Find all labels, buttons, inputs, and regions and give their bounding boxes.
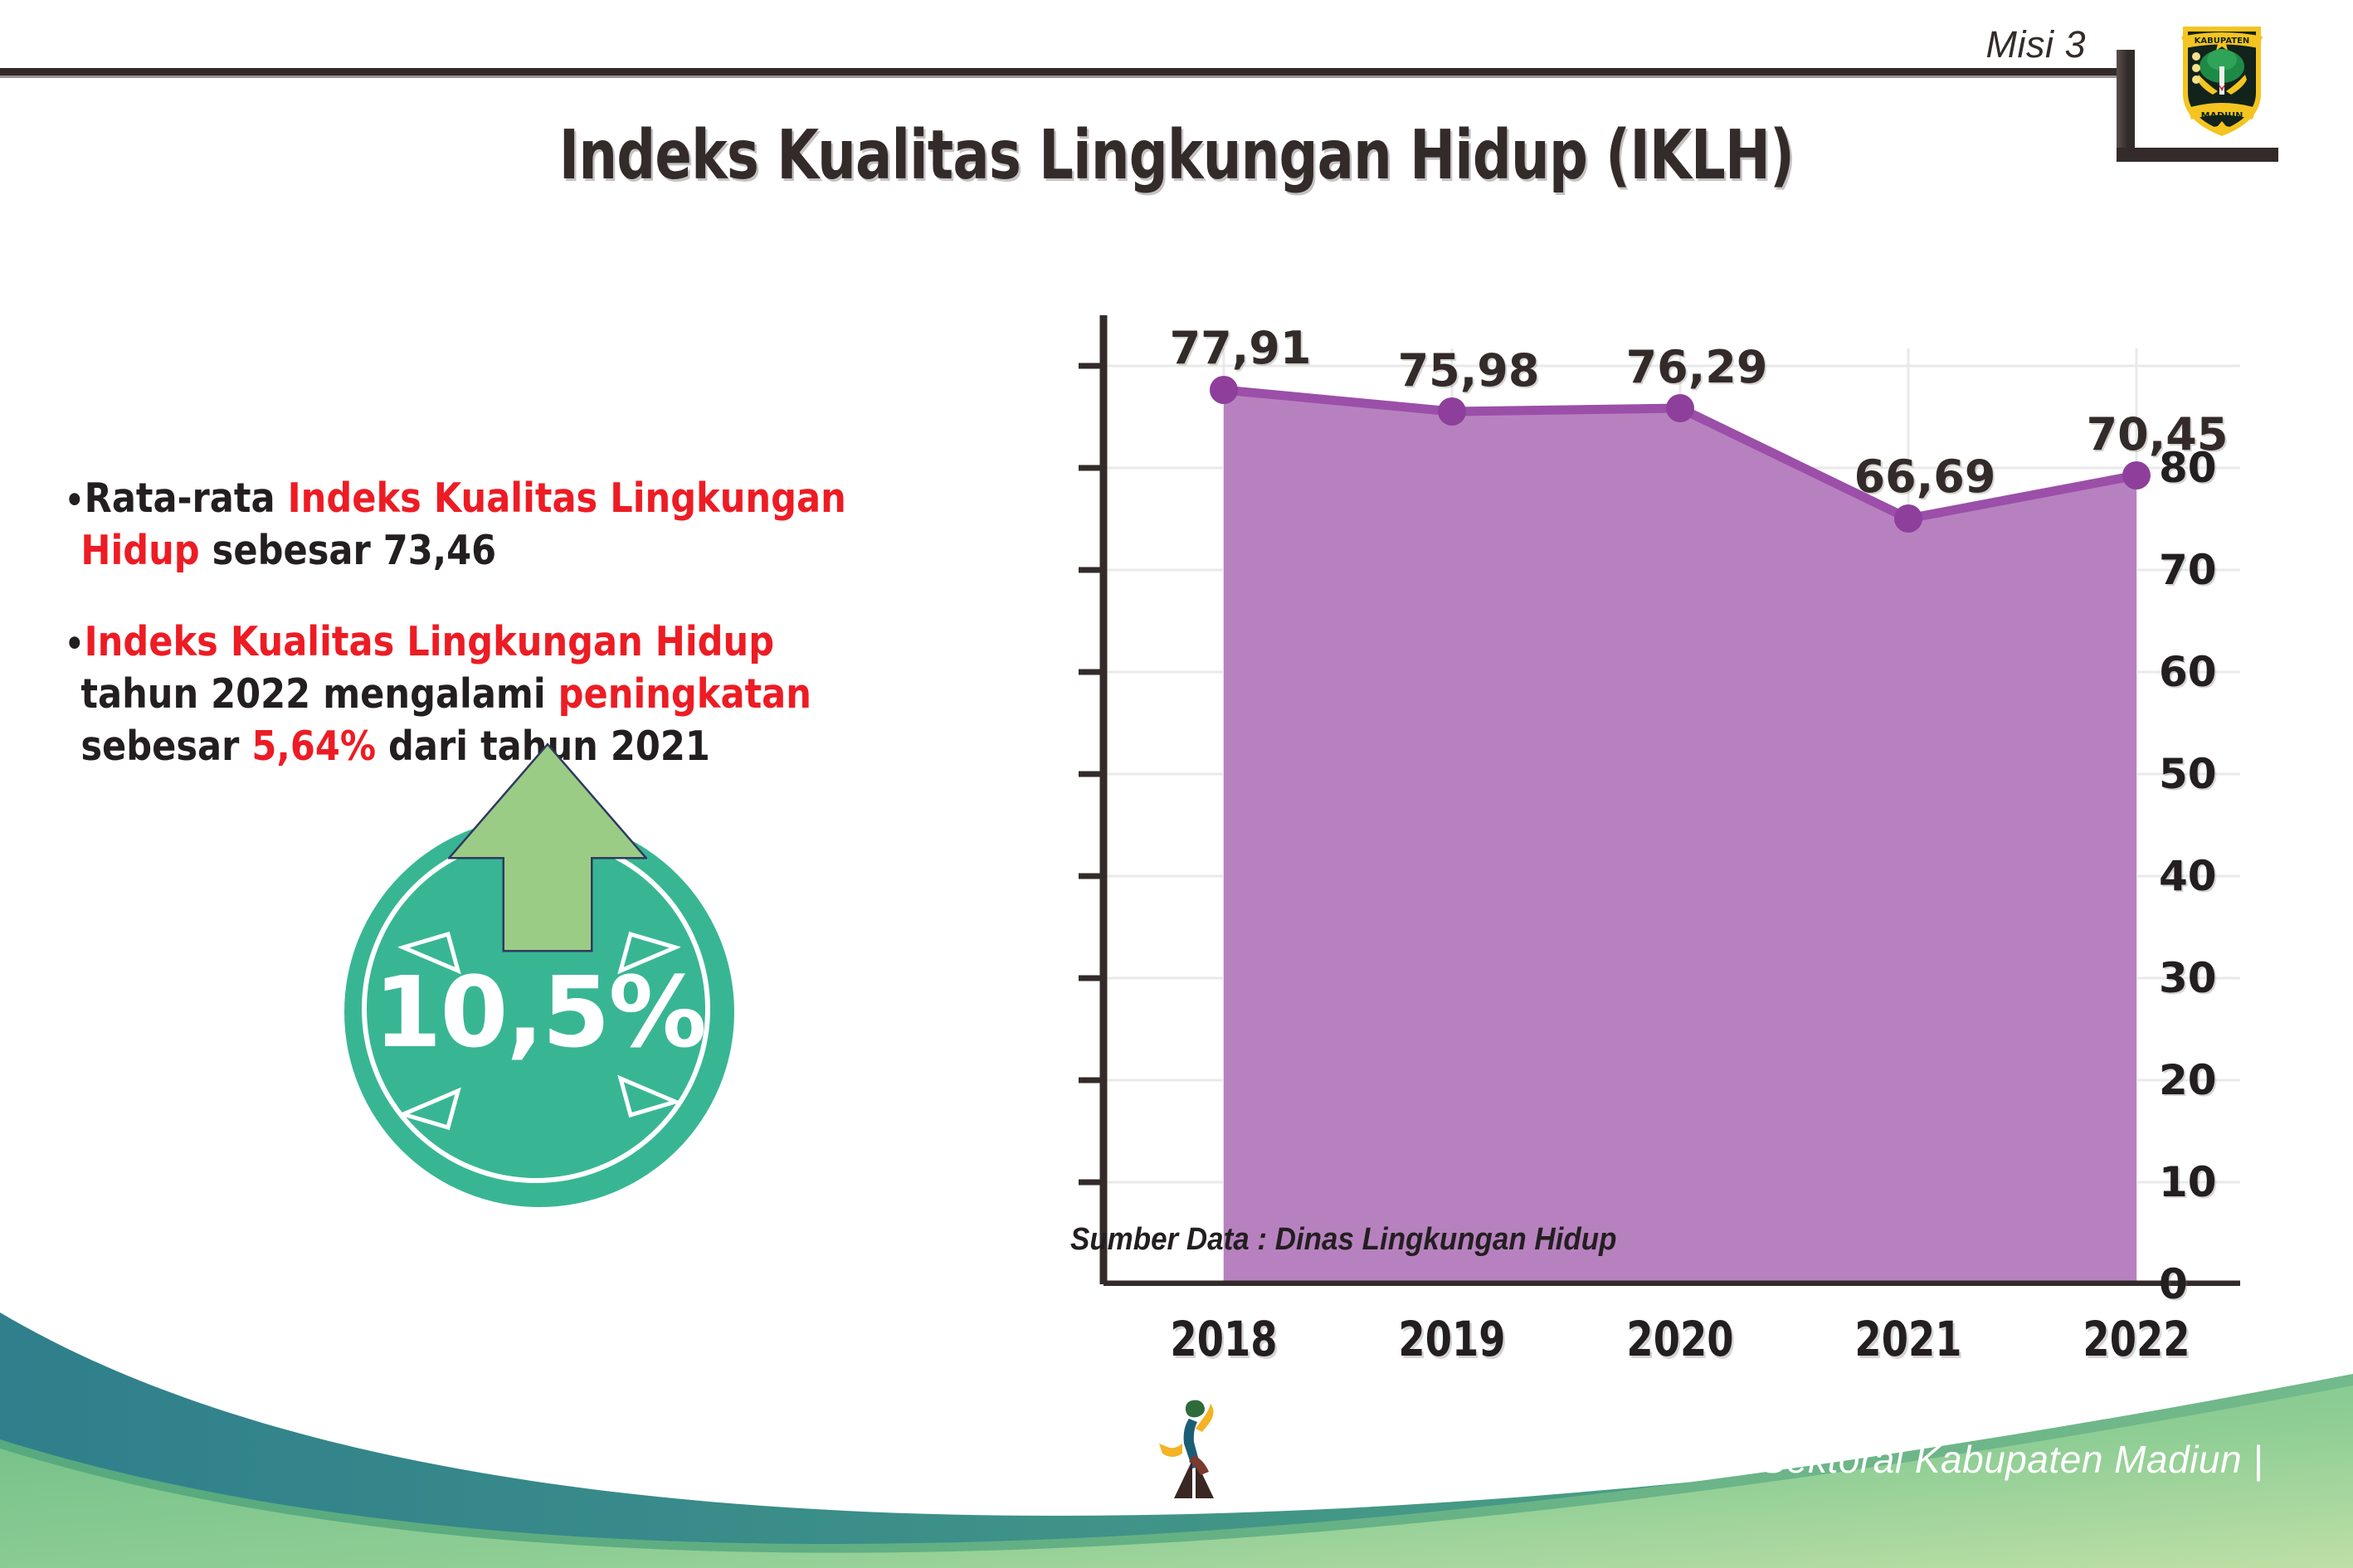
bullet-marker: • xyxy=(65,623,85,664)
y-tick-label-40: 40 xyxy=(2159,852,2240,900)
chart-svg xyxy=(979,282,2240,1286)
data-label-2018: 77,91 xyxy=(1170,322,1312,374)
footer-band: Media Infografis Data Statistik Sektoral… xyxy=(0,1294,2353,1568)
bullet-1-seg-3: sebesar 73,46 xyxy=(200,527,496,574)
data-label-2020: 76,29 xyxy=(1626,341,1768,393)
bullet-2-seg-2: tahun 2022 mengalami xyxy=(80,670,558,718)
chart-source-note: Sumber Data : Dinas Lingkungan Hidup xyxy=(1070,1222,1616,1258)
header-corner-vertical xyxy=(2117,50,2135,162)
increase-badge: 10,5% xyxy=(315,751,780,1215)
iklh-area-chart: 0 10 20 30 40 50 60 70 80 2018 2019 2020… xyxy=(979,282,2240,1286)
y-tick-label-50: 50 xyxy=(2159,750,2240,798)
badge-percentage-value: 10,5% xyxy=(344,817,734,1207)
header-divider-shadow xyxy=(0,75,2124,78)
mission-label: Misi 3 xyxy=(1985,23,2086,66)
bullet-2-seg-3: peningkatan xyxy=(558,670,811,718)
y-tick-label-70: 70 xyxy=(2159,546,2240,594)
data-label-2022: 70,45 xyxy=(2087,408,2229,460)
crest-bottom-text: MADIUN xyxy=(2201,110,2243,121)
bullet-2-seg-4: sebesar xyxy=(80,723,251,770)
y-tick-label-30: 30 xyxy=(2159,954,2240,1002)
bullet-item-1: •Rata-rata Indeks Kualitas Lingkungan Hi… xyxy=(65,473,883,577)
header-divider-line xyxy=(0,68,2124,75)
slide-canvas: Misi 3 KABUPATEN MADIUN Indeks Kualitas … xyxy=(0,0,2353,1568)
header-corner-horizontal xyxy=(2117,148,2278,162)
kabupaten-madiun-crest-logo: KABUPATEN MADIUN xyxy=(2176,15,2268,139)
page-title: Indeks Kualitas Lingkungan Hidup (IKLH) xyxy=(236,116,2118,195)
statistics-agency-logo-icon xyxy=(1149,1395,1236,1503)
bullet-2-seg-1: Indeks Kualitas Lingkungan Hidup xyxy=(85,618,774,665)
crest-top-text: KABUPATEN xyxy=(2195,37,2250,46)
y-tick-label-10: 10 xyxy=(2159,1158,2240,1206)
bullet-1-seg-1: Rata-rata xyxy=(85,475,288,522)
bullet-marker: • xyxy=(65,480,85,520)
chart-area-fill xyxy=(1224,390,2136,1284)
y-tick-label-20: 20 xyxy=(2159,1056,2240,1104)
footer-caption: Media Infografis Data Statistik Sektoral… xyxy=(1230,1437,2263,1482)
data-label-2021: 66,69 xyxy=(1854,450,1996,503)
data-label-2019: 75,98 xyxy=(1398,344,1540,397)
y-tick-label-60: 60 xyxy=(2159,648,2240,696)
